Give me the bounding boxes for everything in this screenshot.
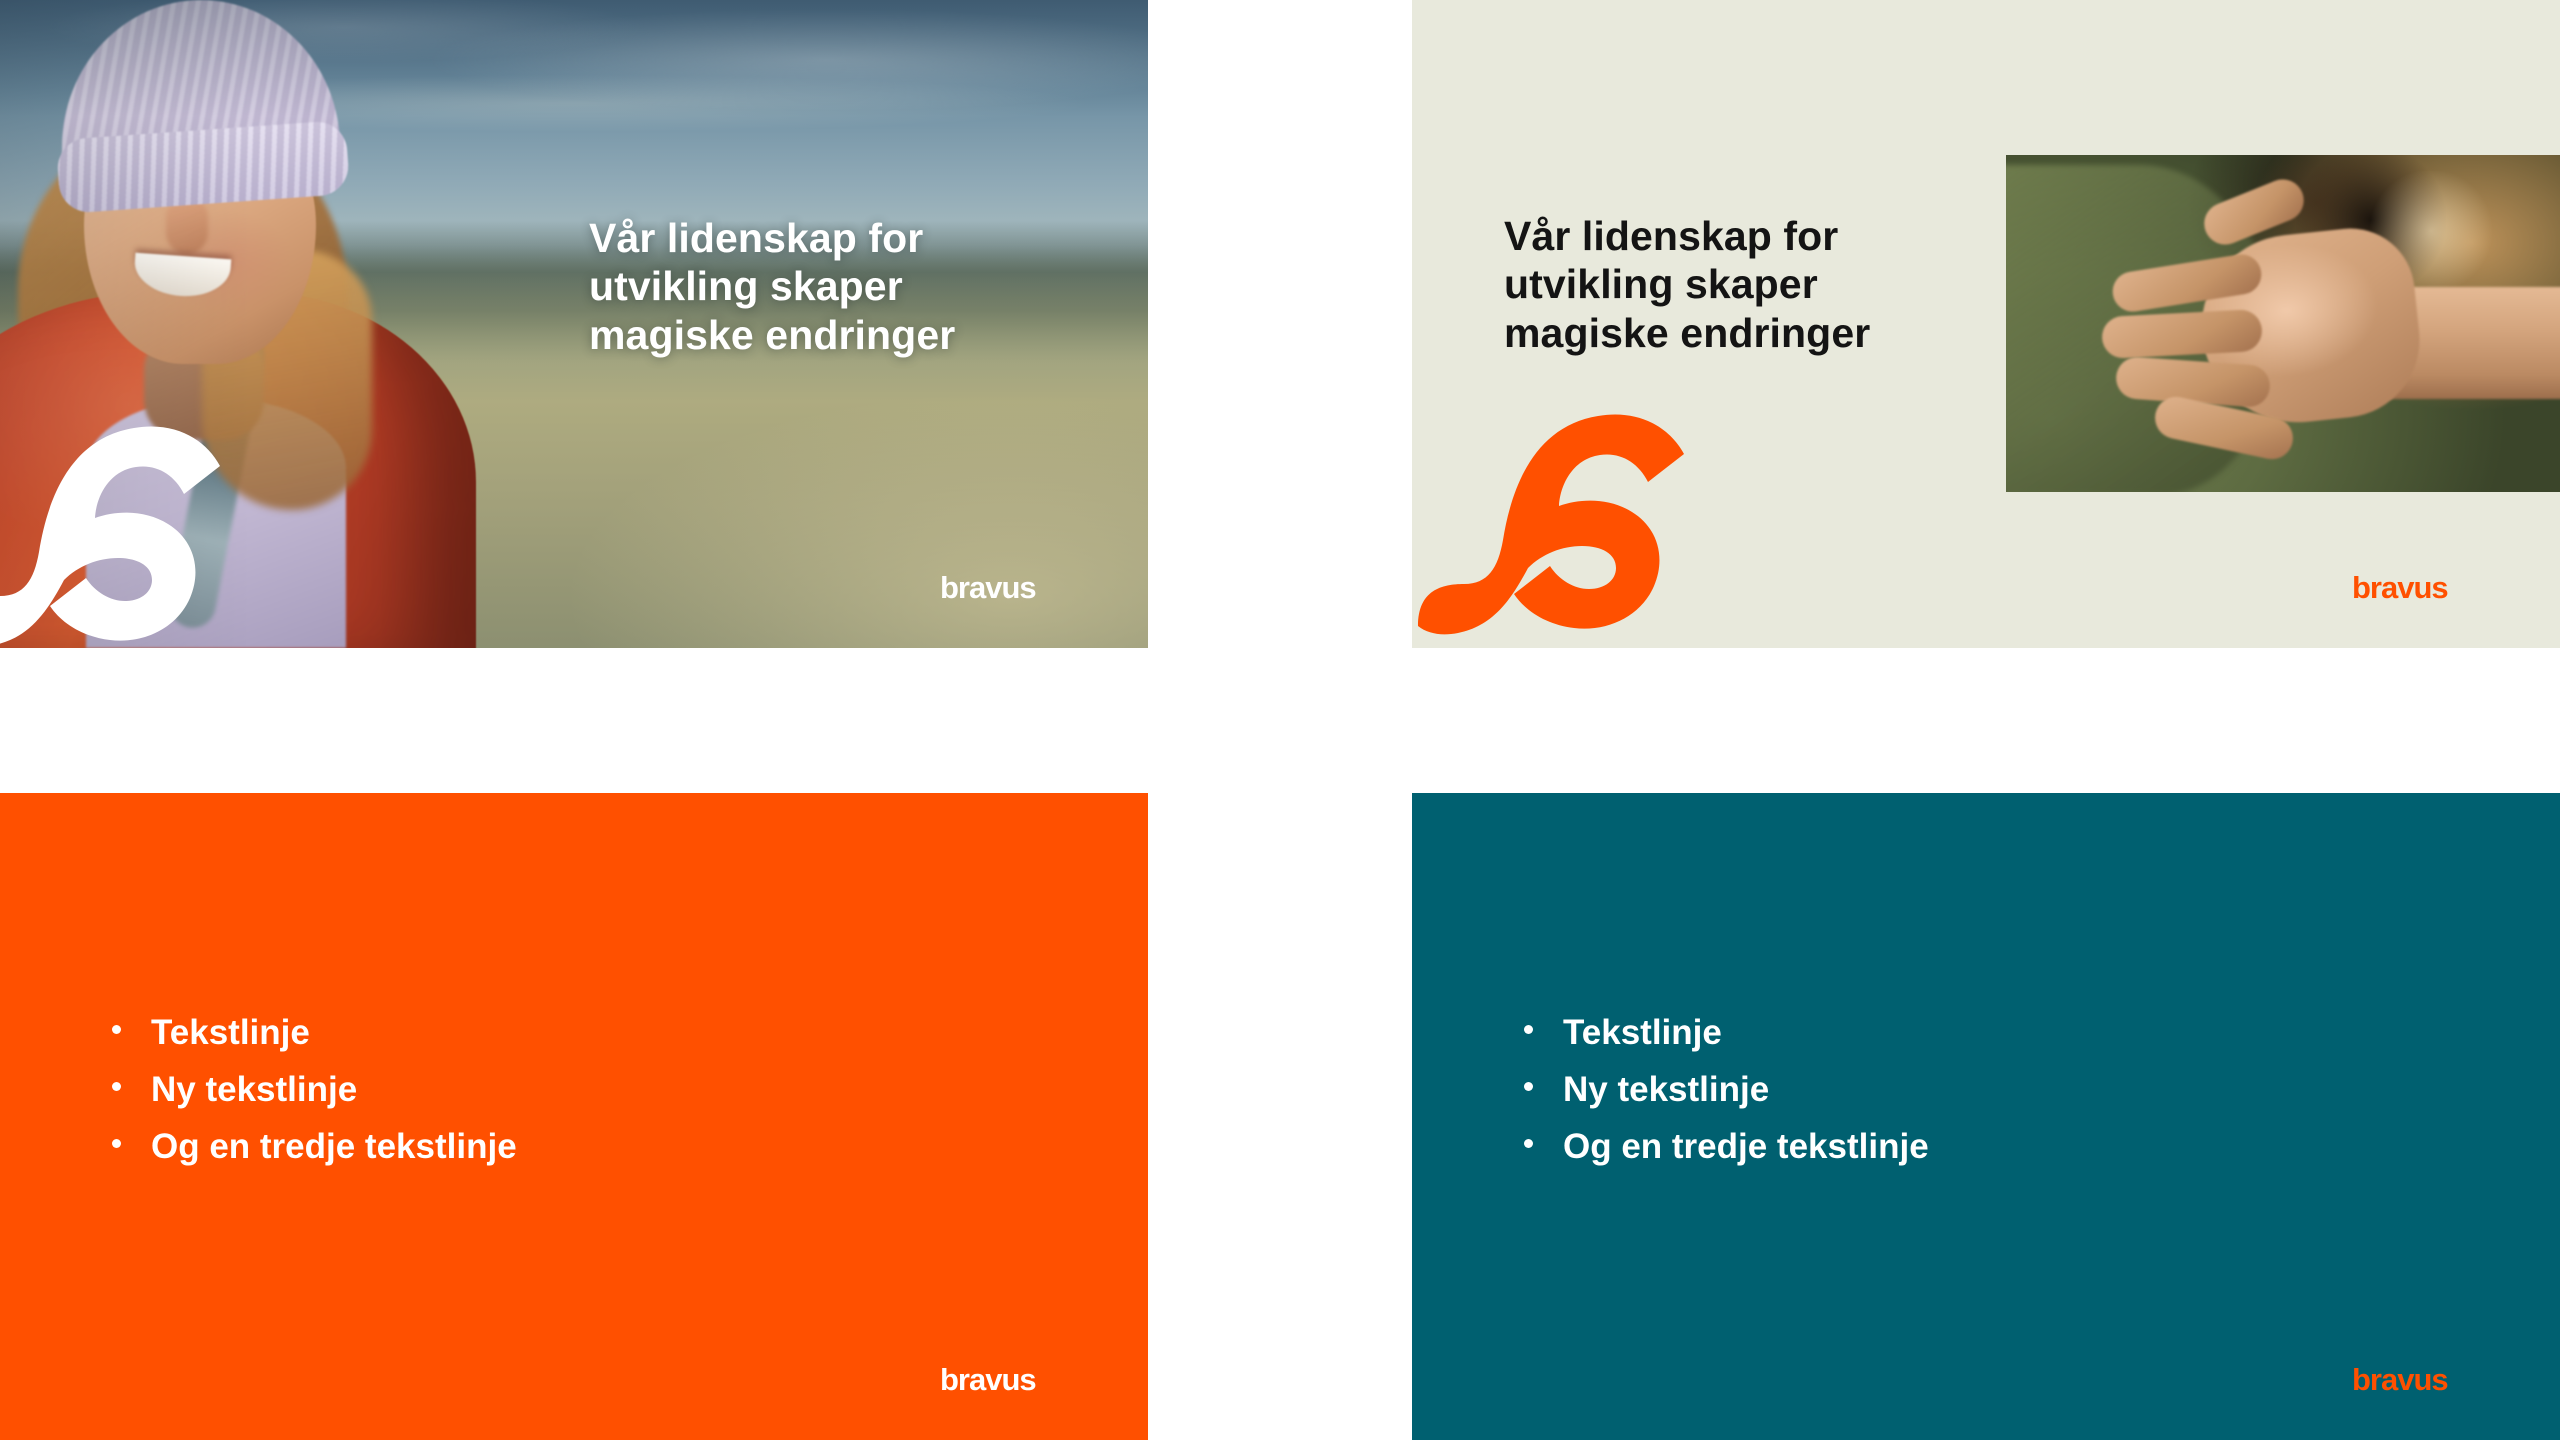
list-item: Ny tekstlinje <box>112 1072 517 1107</box>
bullet-label: Ny tekstlinje <box>1563 1072 1769 1107</box>
bravus-logo-mark <box>1412 398 1692 638</box>
bullet-dot-icon <box>1524 1139 1533 1148</box>
bullet-label: Ny tekstlinje <box>151 1072 357 1107</box>
slide-headline: Vår lidenskap for utvikling skaper magis… <box>1504 212 1870 357</box>
bravus-wordmark: bravus <box>940 1362 1092 1398</box>
svg-text:bravus: bravus <box>940 570 1036 605</box>
bullet-label: Og en tredje tekstlinje <box>151 1129 517 1164</box>
bravus-wordmark: bravus <box>2352 1362 2504 1398</box>
slide-beige-hero[interactable]: Vår lidenskap for utvikling skaper magis… <box>1412 0 2560 648</box>
bullet-label: Tekstlinje <box>1563 1015 1722 1050</box>
bullet-dot-icon <box>112 1082 121 1091</box>
svg-text:bravus: bravus <box>2352 1362 2448 1397</box>
bullet-dot-icon <box>1524 1082 1533 1091</box>
list-item: Tekstlinje <box>1524 1015 1929 1050</box>
list-item: Tekstlinje <box>112 1015 517 1050</box>
bullet-label: Og en tredje tekstlinje <box>1563 1129 1929 1164</box>
hand-on-shoulder-photo <box>2006 155 2560 492</box>
slide-photo-hero[interactable]: Vår lidenskap for utvikling skaper magis… <box>0 0 1148 648</box>
slide-grid: Vår lidenskap for utvikling skaper magis… <box>0 0 2560 1440</box>
bullet-dot-icon <box>112 1025 121 1034</box>
bullet-label: Tekstlinje <box>151 1015 310 1050</box>
bullet-list: Tekstlinje Ny tekstlinje Og en tredje te… <box>112 1015 517 1164</box>
list-item: Ny tekstlinje <box>1524 1072 1929 1107</box>
svg-text:bravus: bravus <box>940 1362 1036 1397</box>
bravus-wordmark: bravus <box>2352 570 2504 606</box>
slide-orange-bullets[interactable]: Tekstlinje Ny tekstlinje Og en tredje te… <box>0 793 1148 1440</box>
slide-teal-bullets[interactable]: Tekstlinje Ny tekstlinje Og en tredje te… <box>1412 793 2560 1440</box>
list-item: Og en tredje tekstlinje <box>112 1129 517 1164</box>
list-item: Og en tredje tekstlinje <box>1524 1129 1929 1164</box>
bullet-dot-icon <box>112 1139 121 1148</box>
svg-text:bravus: bravus <box>2352 570 2448 605</box>
slide-headline: Vår lidenskap for utvikling skaper magis… <box>589 214 955 359</box>
bravus-logo-mark <box>0 410 228 648</box>
bullet-dot-icon <box>1524 1025 1533 1034</box>
bullet-list: Tekstlinje Ny tekstlinje Og en tredje te… <box>1524 1015 1929 1164</box>
bravus-wordmark: bravus <box>940 570 1092 606</box>
